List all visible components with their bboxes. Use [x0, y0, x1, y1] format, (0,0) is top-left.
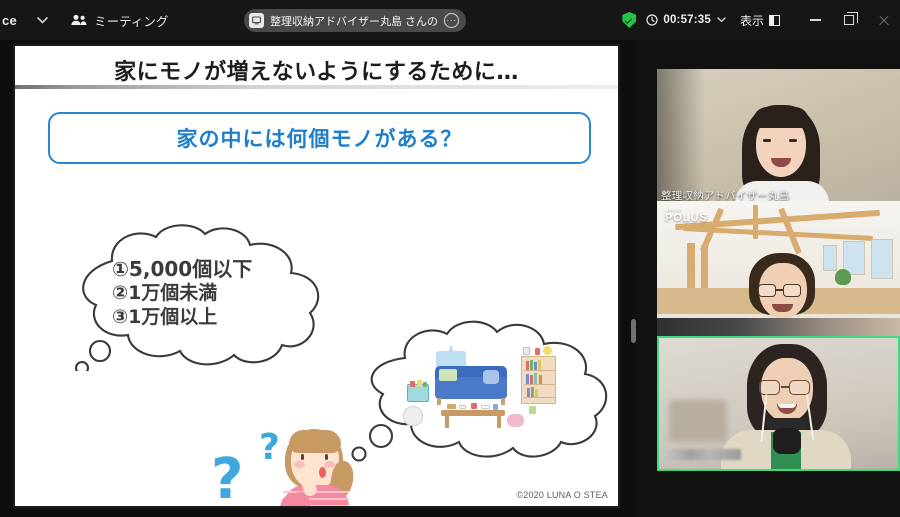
option-item: ③1万個以上 [112, 306, 352, 330]
meeting-window: ce ミーティング 整理収納アドバイザー丸島 さんの · [0, 0, 900, 517]
polus-watermark: GROUP POLUS [665, 207, 708, 224]
trash-bag [403, 406, 423, 426]
option-item: ②1万個未満 [112, 282, 352, 306]
question-mark-icon: ? [211, 447, 243, 508]
room-illustration [403, 344, 563, 436]
participant-tile[interactable]: 整理収納アドバイザー丸島 [657, 69, 900, 204]
presentation-slide: 家にモノが増えないようにするために… 家の中には何個モノがある？ ①5,000個… [13, 44, 620, 508]
thought-bubble-room [345, 314, 620, 464]
panel-resize-handle[interactable] [631, 319, 636, 343]
toy-box [407, 384, 429, 402]
question-callout-text: 家の中には何個モノがある？ [177, 123, 463, 153]
option-item: ①5,000個以下 [112, 257, 352, 282]
restore-button[interactable] [832, 0, 866, 40]
app-name-label: ce [0, 13, 17, 28]
more-options-icon[interactable]: ··· [444, 13, 459, 28]
screen-share-indicator[interactable]: 整理収納アドバイザー丸島 さんの ··· [244, 9, 466, 32]
shared-screen-stage[interactable]: 家にモノが増えないようにするために… 家の中には何個モノがある？ ①5,000個… [0, 40, 634, 517]
share-screen-icon [249, 13, 264, 28]
view-label: 表示 [740, 12, 764, 29]
participant-tile[interactable]: GROUP POLUS [657, 201, 900, 336]
minimize-button[interactable] [798, 0, 832, 40]
timer-label: 00:57:35 [663, 14, 711, 26]
meeting-tab-label: ミーティング [94, 11, 168, 30]
thought-bubble-options: ①5,000個以下 ②1万個未満 ③1万個以上 [60, 221, 370, 371]
bookshelf [521, 356, 556, 404]
title-bar: ce ミーティング 整理収納アドバイザー丸島 さんの · [0, 0, 900, 40]
plush-toy [507, 414, 524, 427]
title-bar-right: 00:57:35 表示 [622, 0, 900, 40]
meeting-tab[interactable]: ミーティング [71, 11, 168, 30]
view-layout-button[interactable]: 表示 [740, 12, 780, 29]
thinking-girl-illustration: ? ? [205, 421, 375, 508]
screen-share-label: 整理収納アドバイザー丸島 さんの [270, 13, 438, 29]
chevron-down-icon[interactable] [717, 17, 726, 23]
video-shadow [657, 69, 705, 204]
slide-title: 家にモノが増えないようにするために… [15, 54, 618, 86]
cushion [483, 370, 499, 384]
options-list: ①5,000個以下 ②1万個未満 ③1万個以上 [112, 257, 352, 330]
close-button[interactable] [866, 0, 900, 40]
chevron-down-icon[interactable] [31, 9, 53, 31]
restore-icon [844, 15, 854, 25]
coffee-table [441, 410, 505, 416]
title-bar-left: ce ミーティング [0, 9, 168, 31]
clock-icon [646, 14, 658, 26]
polus-watermark-text: POLUS [665, 212, 708, 224]
participant-video-panel: 整理収納アドバイザー丸島 [640, 40, 900, 517]
participant-name-label-blurred [663, 449, 741, 460]
copyright-notice: ©2020 LUNA O STEA [516, 490, 608, 500]
title-divider [15, 85, 618, 89]
participant-tile-active-speaker[interactable] [657, 336, 900, 471]
security-shield-icon[interactable] [622, 12, 636, 28]
layout-icon [769, 15, 780, 26]
question-mark-icon: ? [259, 427, 280, 468]
question-callout-box: 家の中には何個モノがある？ [48, 112, 591, 164]
close-icon [878, 15, 889, 26]
meeting-timer[interactable]: 00:57:35 [646, 14, 726, 26]
blanket [439, 369, 457, 381]
people-icon [71, 14, 87, 26]
minimize-icon [810, 19, 821, 20]
